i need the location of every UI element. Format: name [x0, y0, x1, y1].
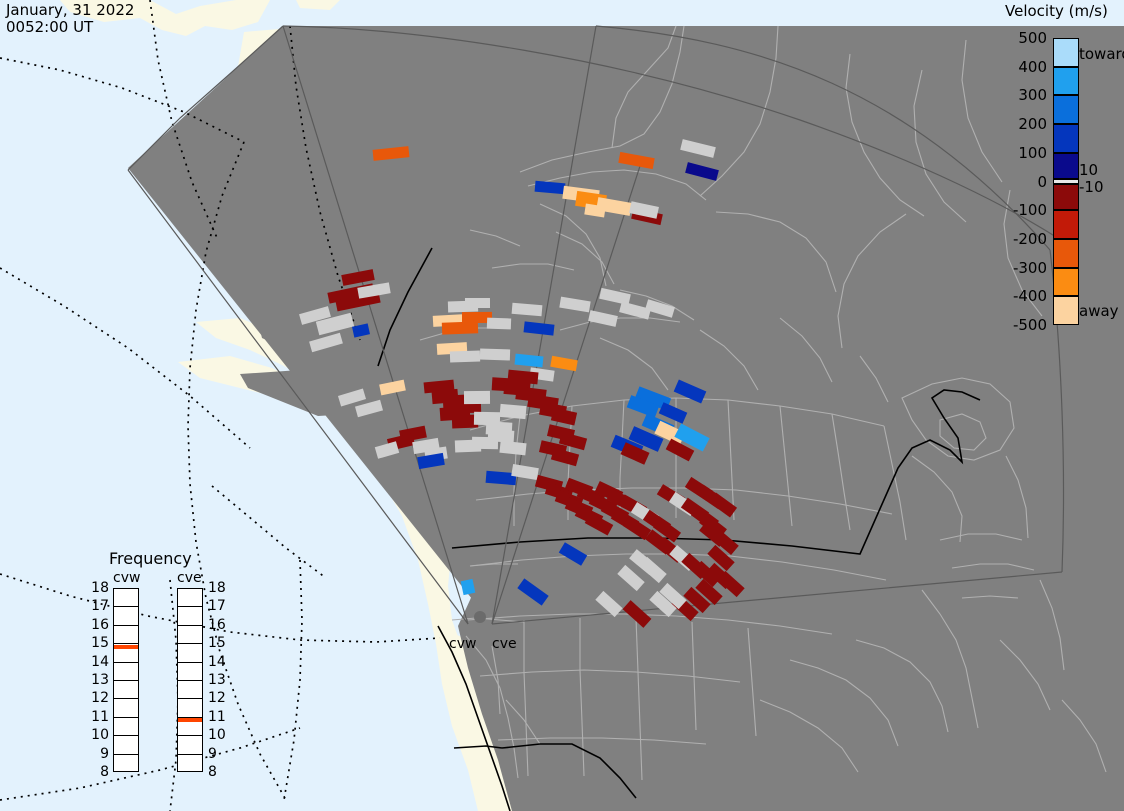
velocity-cell: [487, 318, 511, 330]
colorbar-swatch: [1053, 239, 1079, 268]
velocity-cell: [517, 578, 548, 605]
colorbar-label-away: away: [1079, 302, 1119, 320]
colorbar-swatch: [1053, 95, 1079, 124]
frequency-tick-label: 8: [208, 764, 232, 780]
frequency-marker-cvw: [114, 645, 138, 649]
velocity-cell: [645, 299, 675, 318]
frequency-bar-gridline: [113, 735, 139, 736]
timestamp-date: January, 31 2022: [6, 1, 134, 19]
colorbar-tick-label: -300: [989, 259, 1047, 277]
velocity-cell: [559, 297, 590, 313]
velocity-cell: [617, 565, 644, 591]
velocity-cell: [674, 380, 707, 404]
frequency-tick-label: 9: [85, 746, 109, 762]
colorbar-tick-label: 500: [989, 29, 1047, 47]
velocity-cell: [379, 380, 406, 396]
frequency-tick-label: 10: [208, 727, 232, 743]
frequency-legend-title: Frequency: [109, 549, 192, 568]
velocity-cell: [450, 351, 480, 363]
frequency-tick-label: 11: [208, 709, 232, 725]
velocity-cell: [595, 591, 622, 617]
velocity-cell: [659, 402, 688, 423]
frequency-tick-label: 8: [85, 764, 109, 780]
velocity-cell: [499, 441, 526, 456]
velocity-cell: [685, 162, 719, 181]
colorbar-tick-label: 400: [989, 58, 1047, 76]
radar-label-cvw: cvw: [449, 636, 476, 652]
colorbar-tick-label: 0: [989, 173, 1047, 191]
velocity-cell: [512, 303, 543, 316]
frequency-tick-label: 9: [208, 746, 232, 762]
radar-label-cve: cve: [492, 636, 517, 652]
velocity-cell: [465, 298, 490, 308]
frequency-tick-label: 15: [208, 635, 232, 651]
frequency-bar-label-cve: cve: [177, 570, 202, 586]
velocity-cell: [559, 542, 587, 566]
frequency-tick-label: 15: [85, 635, 109, 651]
frequency-tick-label: 13: [85, 672, 109, 688]
timestamp-time: 0052:00 UT: [6, 18, 93, 36]
velocity-cell: [618, 152, 654, 169]
frequency-bar-gridline: [177, 625, 203, 626]
velocity-cell: [341, 269, 375, 286]
frequency-marker-cve: [178, 718, 202, 722]
frequency-tick-label: 17: [208, 598, 232, 614]
colorbar-swatch: [1053, 184, 1079, 210]
frequency-tick-label: 12: [208, 690, 232, 706]
velocity-cell: [373, 146, 410, 161]
frequency-tick-label: 18: [208, 580, 232, 596]
colorbar-swatch: [1053, 268, 1079, 297]
frequency-tick-label: 14: [208, 654, 232, 670]
velocity-cell: [550, 356, 578, 371]
velocity-cell: [464, 391, 490, 404]
colorbar-swatch: [1053, 210, 1079, 239]
velocity-cell: [515, 354, 544, 368]
colorbar-swatch: [1053, 67, 1079, 96]
colorbar-tick-label: 200: [989, 115, 1047, 133]
colorbar-swatch: [1053, 153, 1079, 179]
colorbar-tick-label: 100: [989, 144, 1047, 162]
colorbar-tick-label: -400: [989, 287, 1047, 305]
frequency-bar-label-cvw: cvw: [113, 570, 140, 586]
frequency-bar-gridline: [113, 717, 139, 718]
velocity-cell: [551, 408, 577, 426]
frequency-bar-gridline: [177, 754, 203, 755]
frequency-bar-gridline: [113, 625, 139, 626]
frequency-tick-label: 16: [85, 617, 109, 633]
timestamp: January, 31 2022 0052:00 UT: [6, 2, 134, 36]
velocity-cell: [355, 400, 383, 418]
velocity-cell: [352, 323, 370, 337]
frequency-tick-label: 11: [85, 709, 109, 725]
velocity-cell: [680, 139, 716, 158]
colorbar-tick-label: -200: [989, 230, 1047, 248]
velocity-cells-layer: [0, 0, 1124, 811]
frequency-bar-gridline: [113, 662, 139, 663]
frequency-tick-label: 12: [85, 690, 109, 706]
velocity-cell: [442, 321, 478, 334]
velocity-cell: [499, 404, 526, 419]
velocity-cell: [523, 321, 554, 335]
velocity-cell: [338, 389, 366, 407]
colorbar-label-pos10: 10: [1079, 161, 1098, 179]
velocity-cell: [375, 441, 399, 459]
frequency-bar-gridline: [177, 662, 203, 663]
velocity-cell: [461, 579, 476, 595]
velocity-cell: [535, 181, 566, 195]
colorbar-label-toward: toward: [1079, 45, 1124, 63]
frequency-bar-gridline: [177, 680, 203, 681]
frequency-bar-gridline: [177, 735, 203, 736]
radar-velocity-map: January, 31 2022 0052:00 UT Velocity (m/…: [0, 0, 1124, 811]
frequency-bar-gridline: [177, 698, 203, 699]
velocity-cell: [309, 333, 343, 352]
colorbar-swatch: [1053, 38, 1079, 67]
frequency-bar-gridline: [113, 754, 139, 755]
velocity-cell: [623, 600, 652, 628]
velocity-cell: [619, 301, 651, 319]
frequency-bar-gridline: [177, 606, 203, 607]
colorbar-tick-label: -100: [989, 201, 1047, 219]
frequency-tick-label: 10: [85, 727, 109, 743]
frequency-bar-gridline: [177, 643, 203, 644]
frequency-tick-label: 17: [85, 598, 109, 614]
frequency-bar-gridline: [113, 698, 139, 699]
frequency-bar-gridline: [113, 680, 139, 681]
colorbar-tick-label: 300: [989, 86, 1047, 104]
frequency-tick-label: 18: [85, 580, 109, 596]
colorbar-swatch: [1053, 124, 1079, 153]
velocity-cell: [417, 453, 445, 469]
frequency-tick-label: 16: [208, 617, 232, 633]
colorbar-swatch: [1053, 296, 1079, 325]
colorbar-label-neg10: -10: [1079, 178, 1104, 196]
frequency-bar-gridline: [113, 606, 139, 607]
colorbar-tick-label: -500: [989, 316, 1047, 334]
frequency-tick-label: 13: [208, 672, 232, 688]
velocity-cell: [480, 349, 510, 361]
colorbar-title: Velocity (m/s): [1005, 2, 1108, 20]
frequency-tick-label: 14: [85, 654, 109, 670]
velocity-cell: [588, 310, 618, 327]
